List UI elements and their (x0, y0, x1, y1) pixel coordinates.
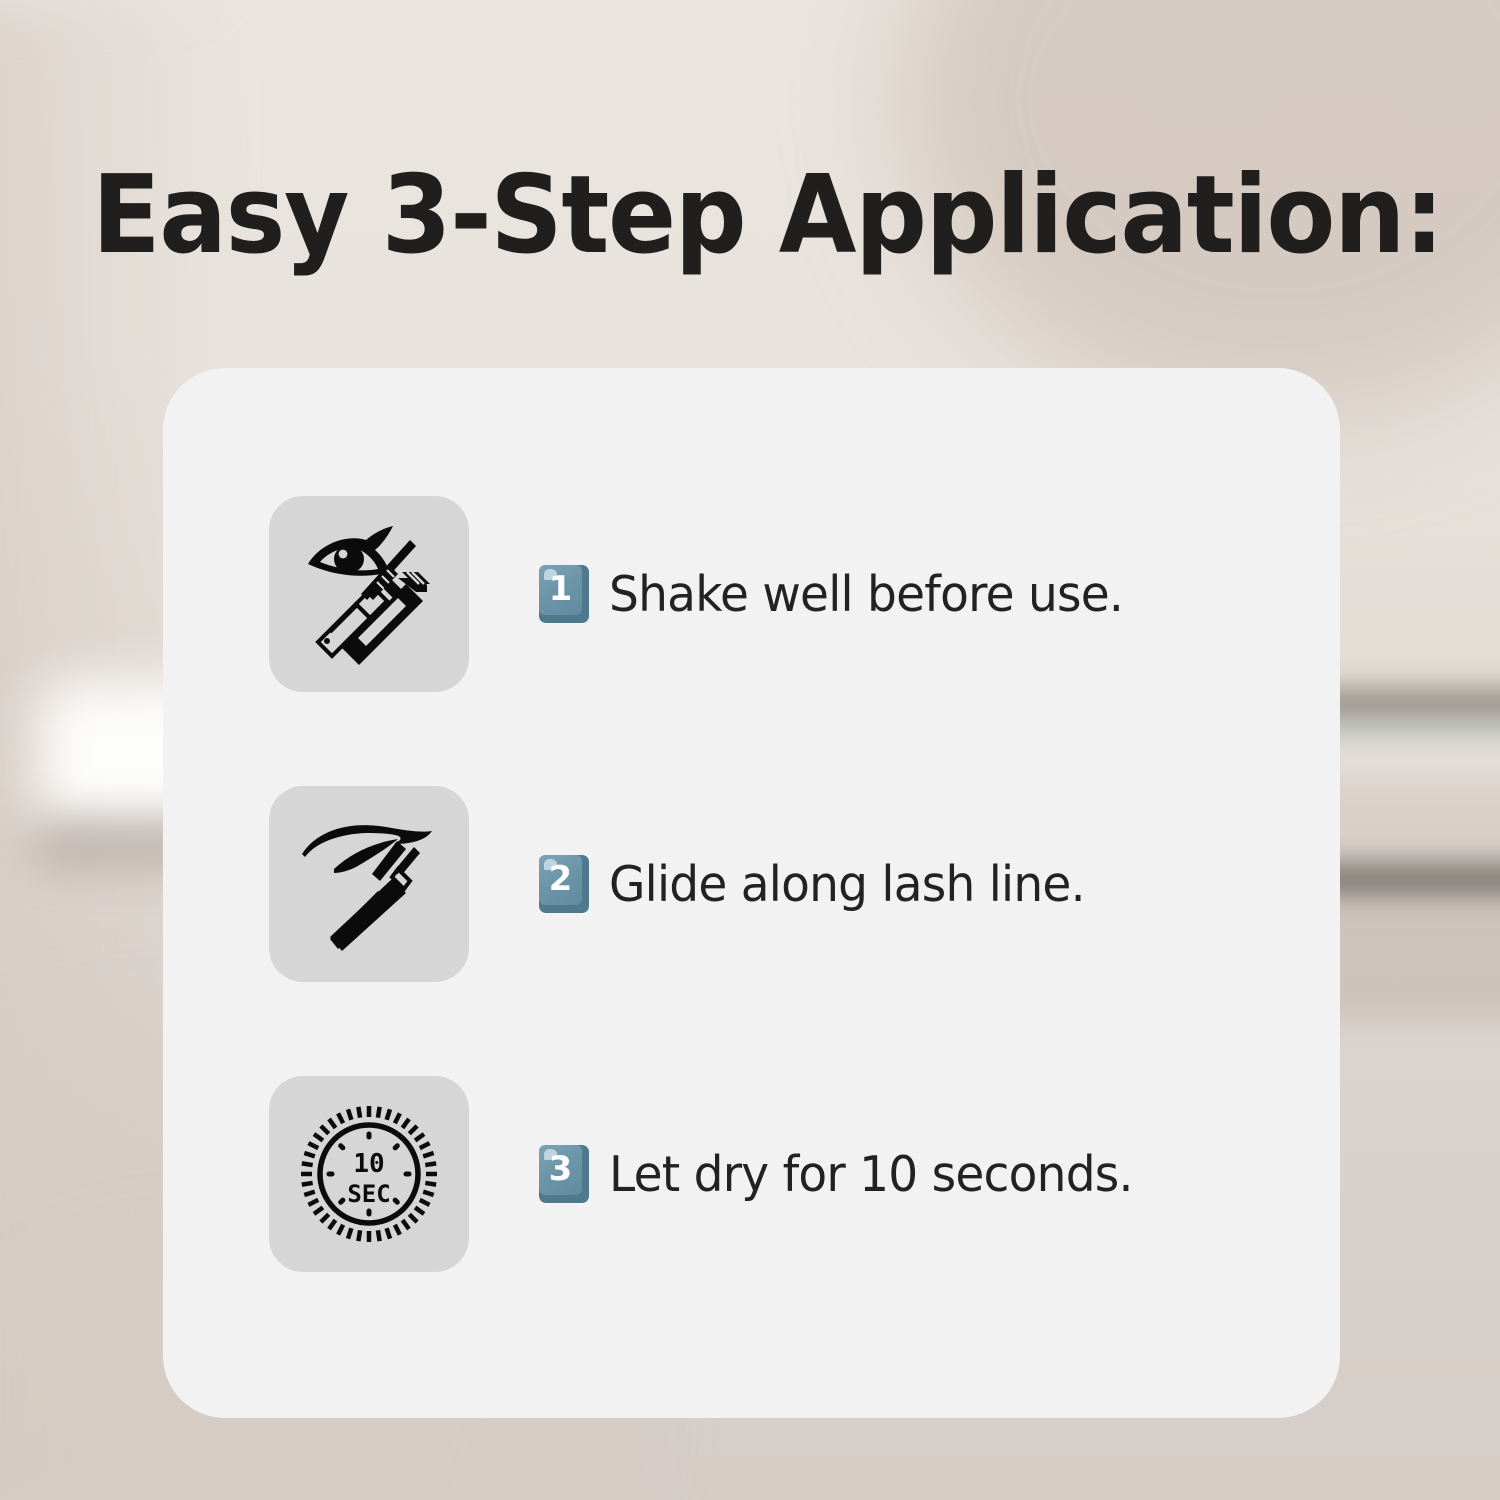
timer-value-top: 10 (353, 1149, 384, 1179)
step-text: Glide along lash line. (609, 856, 1085, 913)
step-body: 2 Glide along lash line. (539, 855, 1105, 913)
step-body: 1 Shake well before use. (539, 565, 1145, 623)
ten-second-timer-icon: 10 SEC (269, 1076, 469, 1272)
timer-value-bottom: SEC (347, 1180, 390, 1208)
step-row: 10 SEC 3 Let dry for 10 seconds. (269, 1076, 1280, 1272)
keycap-number: 2 (539, 855, 582, 905)
keycap-number: 3 (539, 1145, 582, 1195)
step-row: 1 Shake well before use. (269, 496, 1280, 692)
step-number-keycap: 1 (539, 565, 589, 623)
eyeliner-pen-and-eye-icon (269, 496, 469, 692)
steps-card: 1 Shake well before use. (163, 368, 1340, 1418)
step-number-keycap: 3 (539, 1145, 589, 1203)
eyeliner-brush-lash-line-icon (269, 786, 469, 982)
step-number-keycap: 2 (539, 855, 589, 913)
step-row: 2 Glide along lash line. (269, 786, 1280, 982)
keycap-number: 1 (539, 565, 582, 615)
step-text: Let dry for 10 seconds. (609, 1146, 1133, 1203)
page-title: Easy 3-Step Application: (92, 158, 1443, 275)
step-body: 3 Let dry for 10 seconds. (539, 1145, 1155, 1203)
step-text: Shake well before use. (609, 566, 1123, 623)
